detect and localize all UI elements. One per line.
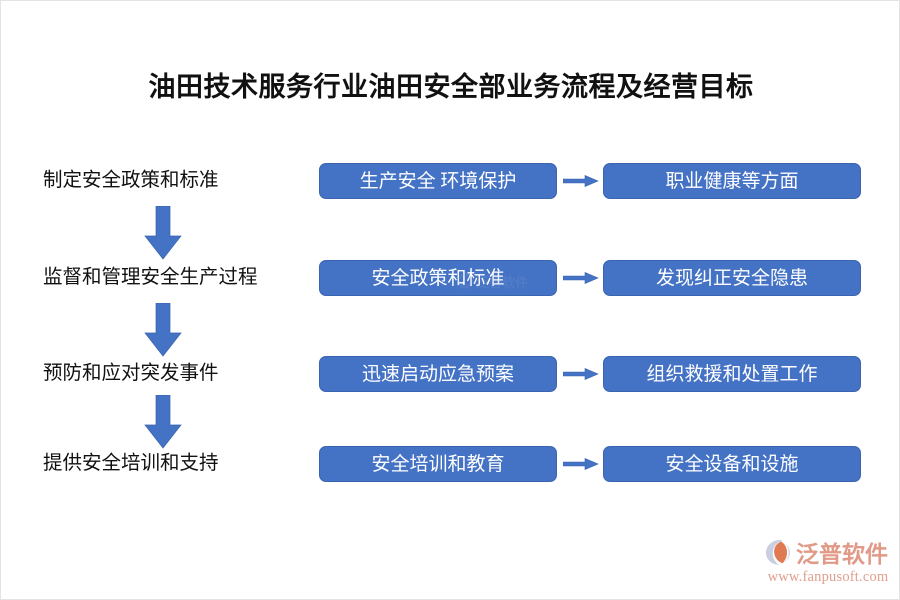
watermark-brand: 泛普软件 — [796, 535, 888, 569]
stage-label-1: 制定安全政策和标准 — [43, 161, 219, 201]
flow-row: 预防和应对突发事件 迅速启动应急预案 组织救援和处置工作 — [1, 354, 900, 394]
process-box-1-right[interactable]: 职业健康等方面 — [603, 163, 861, 199]
flow-row: 制定安全政策和标准 生产安全 环境保护 职业健康等方面 — [1, 161, 900, 201]
process-box-4-left[interactable]: 安全培训和教育 — [319, 446, 557, 482]
stage-label-3: 预防和应对突发事件 — [43, 354, 219, 394]
fanpu-logo-icon — [763, 537, 793, 567]
diagram-canvas: 油田技术服务行业油田安全部业务流程及经营目标 制定安全政策和标准 生产安全 环境… — [0, 0, 900, 600]
right-arrow-icon-3 — [563, 367, 599, 381]
flow-row: 监督和管理安全生产过程 安全政策和标准 发现纠正安全隐患 — [1, 258, 900, 298]
process-box-4-right[interactable]: 安全设备和设施 — [603, 446, 861, 482]
right-arrow-icon-1 — [563, 174, 599, 188]
process-box-3-right[interactable]: 组织救援和处置工作 — [603, 356, 861, 392]
right-arrow-icon-2 — [563, 271, 599, 285]
watermark: 泛普软件 www.fanpusoft.com — [763, 535, 893, 589]
watermark-brand-row: 泛普软件 — [763, 535, 893, 569]
stage-label-4: 提供安全培训和支持 — [43, 444, 219, 484]
stage-label-2: 监督和管理安全生产过程 — [43, 258, 258, 298]
watermark-url: www.fanpusoft.com — [763, 569, 893, 586]
flow-diagram: 制定安全政策和标准 生产安全 环境保护 职业健康等方面 监督和管理安全生产过程 … — [1, 1, 900, 600]
down-arrow-icon-1 — [143, 206, 183, 260]
process-box-1-left[interactable]: 生产安全 环境保护 — [319, 163, 557, 199]
process-box-3-left[interactable]: 迅速启动应急预案 — [319, 356, 557, 392]
flow-row: 提供安全培训和支持 安全培训和教育 安全设备和设施 — [1, 444, 900, 484]
process-box-2-right[interactable]: 发现纠正安全隐患 — [603, 260, 861, 296]
down-arrow-icon-3 — [143, 395, 183, 449]
right-arrow-icon-4 — [563, 457, 599, 471]
process-box-2-left[interactable]: 安全政策和标准 — [319, 260, 557, 296]
down-arrow-icon-2 — [143, 303, 183, 357]
